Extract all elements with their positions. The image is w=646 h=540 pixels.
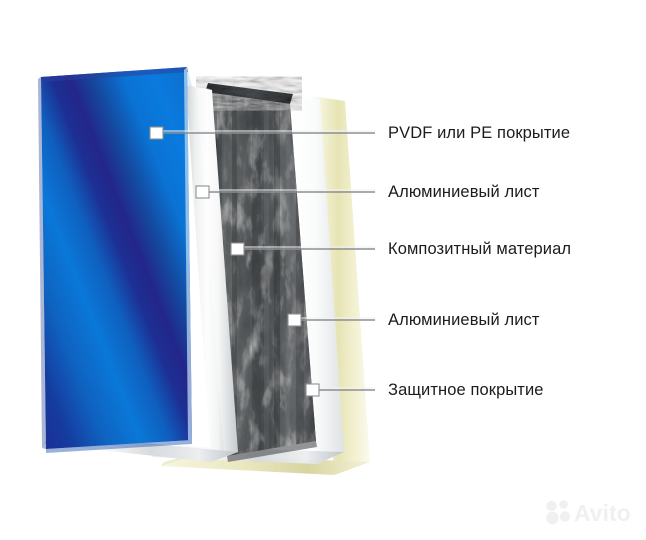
avito-watermark-text: Avito	[574, 500, 631, 526]
avito-watermark: Avito	[543, 496, 639, 528]
callout-label-aluminium-sheet-back: Алюминиевый лист	[388, 312, 540, 329]
callout-label-composite-core: Композитный материал	[388, 241, 571, 258]
callout-label-pvdf-pe-coating: PVDF или PE покрытие	[388, 125, 570, 142]
layer-pvdf-pe-coating	[38, 67, 192, 453]
callout-label-aluminium-sheet-front: Алюминиевый лист	[388, 184, 540, 201]
callout-label-protective-coating: Защитное покрытие	[388, 382, 544, 399]
composite-panel-diagram: PVDF или PE покрытие Алюминиевый лист Ко…	[0, 0, 646, 540]
layer-stack-illustration	[0, 0, 646, 540]
